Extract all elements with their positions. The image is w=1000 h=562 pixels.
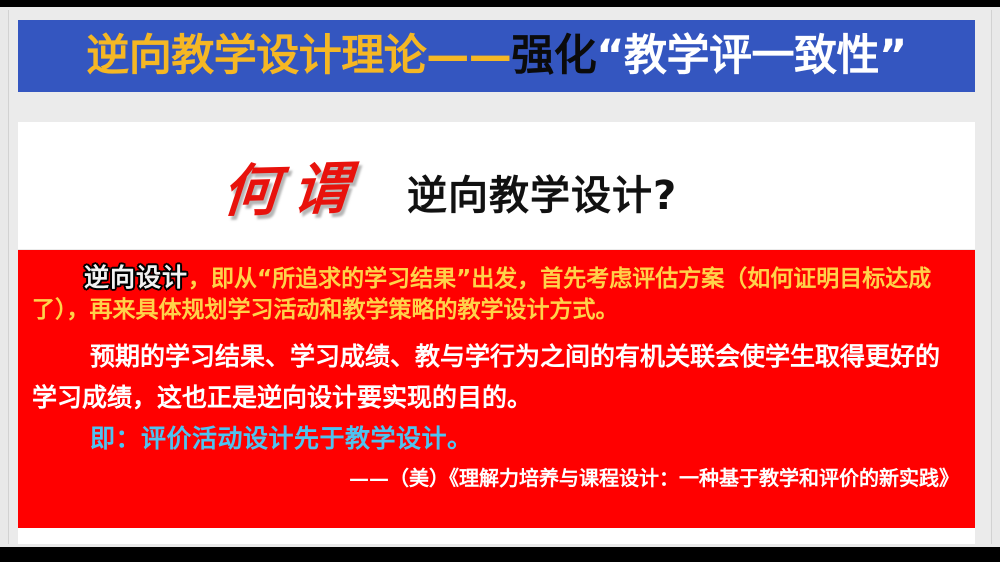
body-paragraph-outcomes: 预期的学习结果、学习成绩、教与学行为之间的有机关联会使学生取得更好的学习成绩，这… [32, 336, 961, 418]
slide-inner-frame: 逆向教学设计理论——强化“教学评一致性” 何谓 逆向教学设计? 逆向设计，即从“… [8, 10, 992, 544]
title-line: 逆向教学设计理论——强化“教学评一致性” [86, 35, 907, 78]
question-band-inner: 何谓 逆向教学设计? [18, 145, 677, 226]
outline-highlight-backward-design: 逆向设计 [84, 263, 188, 292]
bottom-letterbox-bar [0, 547, 1000, 562]
top-letterbox-bar [0, 0, 1000, 7]
brush-calligraphy-text: 何谓 [220, 143, 367, 228]
bottom-white-strip [18, 528, 975, 544]
title-segment-strengthen: 强化 [511, 31, 596, 81]
source-citation: ——（美）《理解力培养与课程设计：一种基于教学和评价的新实践》 [32, 464, 961, 492]
question-heading: 逆向教学设计? [407, 163, 677, 221]
title-banner: 逆向教学设计理论——强化“教学评一致性” [18, 20, 975, 92]
body-paragraph-definition: 逆向设计，即从“所追求的学习结果”出发，首先考虑评估方案（如何证明目标达成了），… [32, 262, 961, 326]
body-paragraph-conclusion: 即：评价活动设计先于教学设计。 [32, 422, 961, 456]
body-block: 逆向设计，即从“所追求的学习结果”出发，首先考虑评估方案（如何证明目标达成了），… [18, 250, 975, 528]
title-segment-theory: 逆向教学设计理论—— [86, 31, 511, 81]
slide-root: 逆向教学设计理论——强化“教学评一致性” 何谓 逆向教学设计? 逆向设计，即从“… [0, 0, 1000, 562]
page-canvas: 逆向教学设计理论——强化“教学评一致性” 何谓 逆向教学设计? 逆向设计，即从“… [0, 7, 1000, 547]
question-band: 何谓 逆向教学设计? [18, 122, 975, 249]
title-segment-consistency: “教学评一致性” [596, 31, 907, 81]
